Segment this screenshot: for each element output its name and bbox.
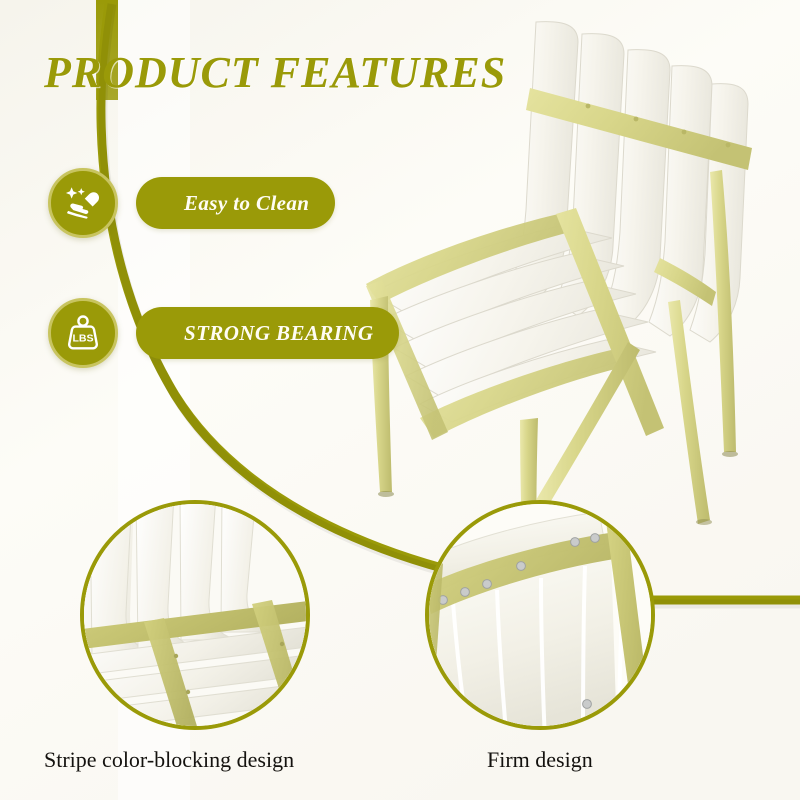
detail-caption-right: Firm design bbox=[487, 747, 593, 773]
detail-circle-stripe-design[interactable] bbox=[80, 500, 310, 730]
page-title: PRODUCT FEATURES bbox=[44, 47, 506, 98]
product-features-infographic: PRODUCT FEATURES Easy to Clean STRONG BE… bbox=[0, 0, 800, 800]
backrest-seat-closeup bbox=[84, 504, 306, 726]
underside-screws-closeup bbox=[429, 504, 651, 726]
feature-label: Easy to Clean bbox=[136, 191, 335, 216]
feature-pill: Easy to Clean bbox=[136, 177, 335, 229]
detail-caption-left: Stripe color-blocking design bbox=[44, 747, 294, 773]
detail-circle-firm-design[interactable] bbox=[425, 500, 655, 730]
feature-label: STRONG BEARING bbox=[136, 321, 399, 346]
hand-sponge-sparkle-icon bbox=[48, 168, 118, 238]
weight-lbs-icon: LBS bbox=[48, 298, 118, 368]
weight-icon-label: LBS bbox=[72, 332, 93, 344]
feature-pill: STRONG BEARING bbox=[136, 307, 399, 359]
